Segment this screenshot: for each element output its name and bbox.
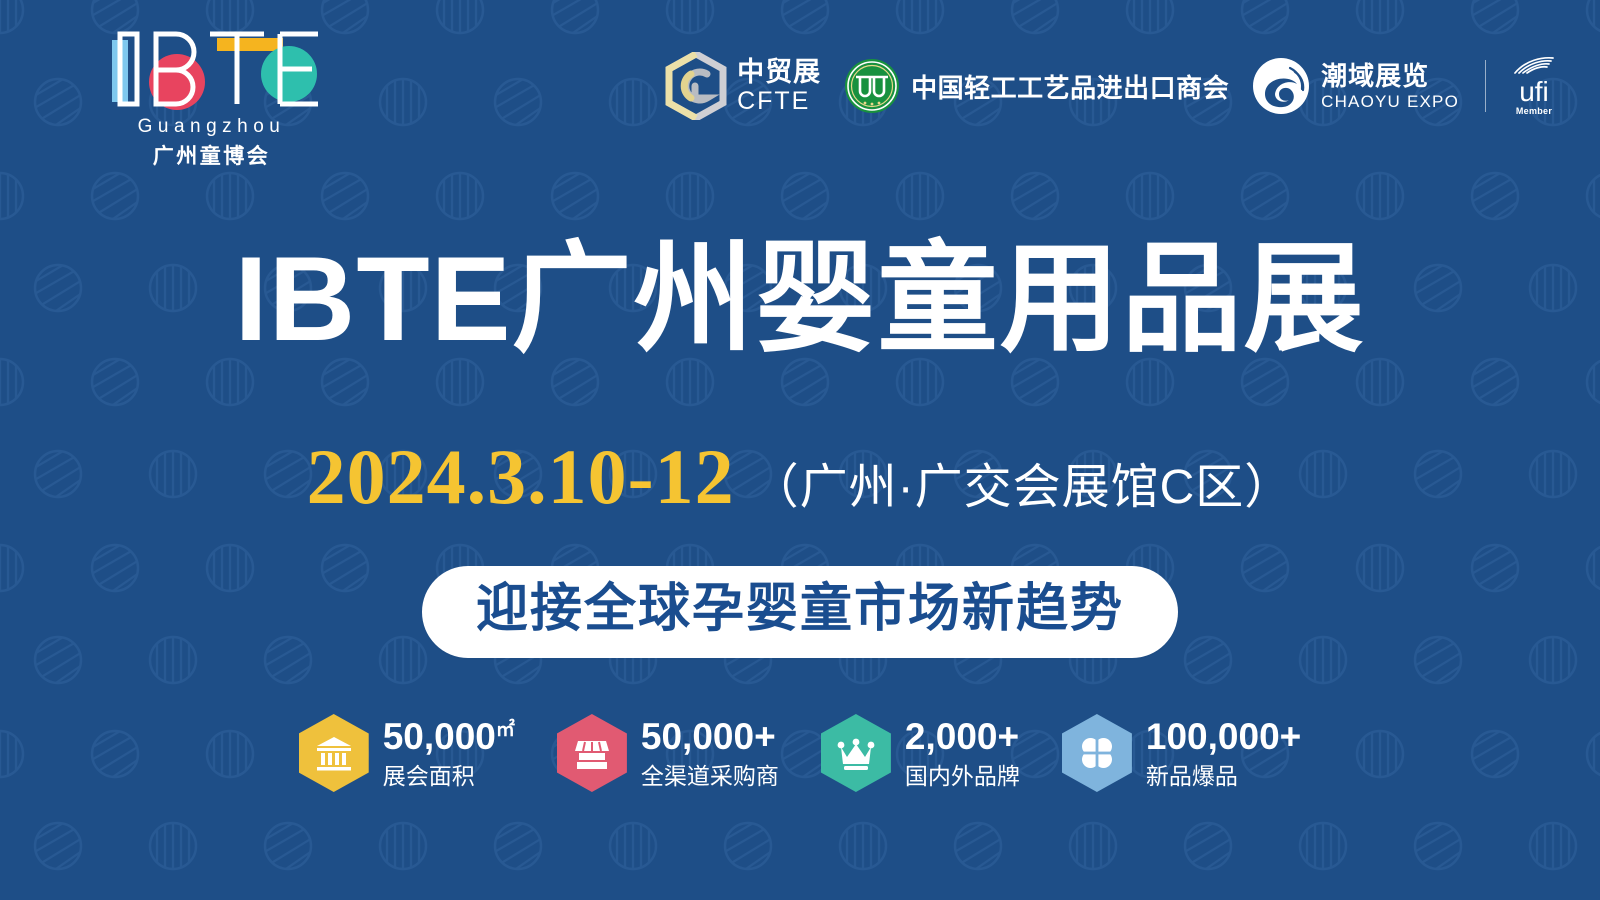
ibte-logo[interactable]: Guangzhou 广州童博会	[104, 26, 334, 166]
stats-row: 50,000㎡ 展会面积 50,000+	[0, 714, 1600, 792]
title-cn: 广州婴童用品展	[512, 232, 1366, 366]
partner-ufi[interactable]: ufi Member	[1512, 56, 1556, 116]
chaoyu-name-cn: 潮域展览	[1321, 63, 1459, 89]
event-venue: （广州·广交会展馆C区）	[751, 447, 1294, 517]
ibte-subtitle-cn: 广州童博会	[104, 140, 319, 170]
cfte-name-en: CFTE	[737, 89, 821, 114]
stat-value-products: 100,000+	[1146, 717, 1301, 758]
partner-logos: 中贸展 CFTE	[665, 46, 1556, 126]
stat-item-area: 50,000㎡ 展会面积	[299, 714, 515, 792]
stat-hex-buyers	[557, 714, 627, 792]
stat-value-brands: 2,000+	[905, 717, 1020, 758]
stat-unit-area: ㎡	[496, 719, 515, 740]
stat-item-brands: 2,000+ 国内外品牌	[821, 714, 1020, 792]
partner-ccct[interactable]: 中国轻工工艺品进出口商会	[843, 57, 1229, 115]
cfte-text: 中贸展 CFTE	[737, 59, 821, 114]
partner-divider	[1485, 60, 1486, 112]
ccct-name-cn: 中国轻工工艺品进出口商会	[911, 68, 1229, 105]
chaoyu-name-en: CHAOYU EXPO	[1321, 93, 1459, 110]
partner-chaoyu[interactable]: 潮域展览 CHAOYU EXPO	[1251, 56, 1459, 116]
stat-text-brands: 2,000+ 国内外品牌	[905, 717, 1020, 790]
ufi-wordmark: ufi	[1519, 78, 1549, 106]
stat-hex-products	[1062, 714, 1132, 792]
cfte-hexagon-icon	[665, 52, 727, 120]
stat-value-buyers: 50,000+	[641, 717, 779, 758]
ibte-logo-mark	[104, 26, 319, 112]
stat-text-buyers: 50,000+ 全渠道采购商	[641, 717, 779, 790]
stat-number-area: 50,000	[383, 716, 496, 757]
logo-e-circle-shape	[261, 46, 317, 102]
storefront-icon	[572, 733, 612, 773]
slogan-text: 迎接全球孕婴童市场新趋势	[476, 580, 1124, 640]
stat-text-area: 50,000㎡ 展会面积	[383, 717, 515, 790]
event-date-row: 2024.3.10-12 （广州·广交会展馆C区）	[0, 432, 1600, 522]
stat-label-brands: 国内外品牌	[905, 764, 1020, 789]
stat-text-products: 100,000+ 新品爆品	[1146, 717, 1301, 790]
chaoyu-text: 潮域展览 CHAOYU EXPO	[1321, 63, 1459, 110]
title-latin: IBTE	[234, 232, 511, 366]
stat-value-area: 50,000㎡	[383, 717, 515, 758]
logo-t-bar-shape	[217, 38, 283, 51]
flower-icon	[1077, 733, 1117, 773]
ufi-swoosh-icon	[1512, 56, 1556, 76]
chaoyu-wave-icon	[1251, 56, 1311, 116]
header-bar: Guangzhou 广州童博会 中贸展 CFTE	[0, 0, 1600, 170]
poster-canvas: Guangzhou 广州童博会 中贸展 CFTE	[0, 0, 1600, 900]
stat-hex-area	[299, 714, 369, 792]
partner-cfte[interactable]: 中贸展 CFTE	[665, 52, 821, 120]
museum-icon	[314, 733, 354, 773]
stat-label-products: 新品爆品	[1146, 764, 1301, 789]
cfte-name-cn: 中贸展	[737, 59, 821, 86]
stat-hex-brands	[821, 714, 891, 792]
ibte-subtitle-en: Guangzhou	[104, 116, 319, 138]
ccct-seal-icon	[843, 57, 901, 115]
slogan-badge: 迎接全球孕婴童市场新趋势	[422, 566, 1178, 658]
page-title: IBTE广州婴童用品展	[0, 236, 1600, 362]
event-date: 2024.3.10-12	[307, 432, 735, 522]
stat-item-buyers: 50,000+ 全渠道采购商	[557, 714, 779, 792]
ufi-member-label: Member	[1516, 107, 1552, 116]
stat-label-buyers: 全渠道采购商	[641, 764, 779, 789]
stat-label-area: 展会面积	[383, 764, 515, 789]
crown-icon	[836, 733, 876, 773]
stat-item-products: 100,000+ 新品爆品	[1062, 714, 1301, 792]
